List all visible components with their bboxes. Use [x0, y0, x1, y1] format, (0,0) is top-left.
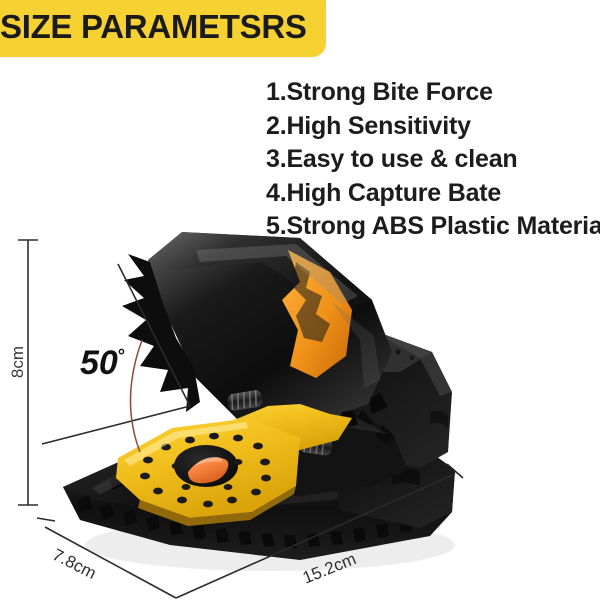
feature-item-2: 2.High Sensitivity	[266, 110, 600, 144]
page-title: SIZE PARAMETSRS	[0, 4, 330, 50]
infographic-canvas: SIZE PARAMETSRS 1.Strong Bite Force 2.Hi…	[0, 0, 600, 600]
feature-list: 1.Strong Bite Force 2.High Sensitivity 3…	[266, 76, 600, 244]
height-dimension-label: 8cm	[8, 332, 28, 392]
angle-label: 50°	[80, 344, 125, 383]
angle-value: 50	[80, 344, 118, 382]
feature-item-4: 4.High Capture Bate	[266, 177, 600, 211]
feature-item-5: 5.Strong ABS Plastic Materia	[266, 210, 600, 244]
angle-arc	[130, 340, 142, 452]
depth-dim-cap	[37, 518, 55, 521]
feature-item-1: 1.Strong Bite Force	[266, 76, 600, 110]
feature-item-3: 3.Easy to use & clean	[266, 143, 600, 177]
header-banner: SIZE PARAMETSRS	[0, 0, 326, 57]
degree-symbol: °	[118, 346, 125, 366]
